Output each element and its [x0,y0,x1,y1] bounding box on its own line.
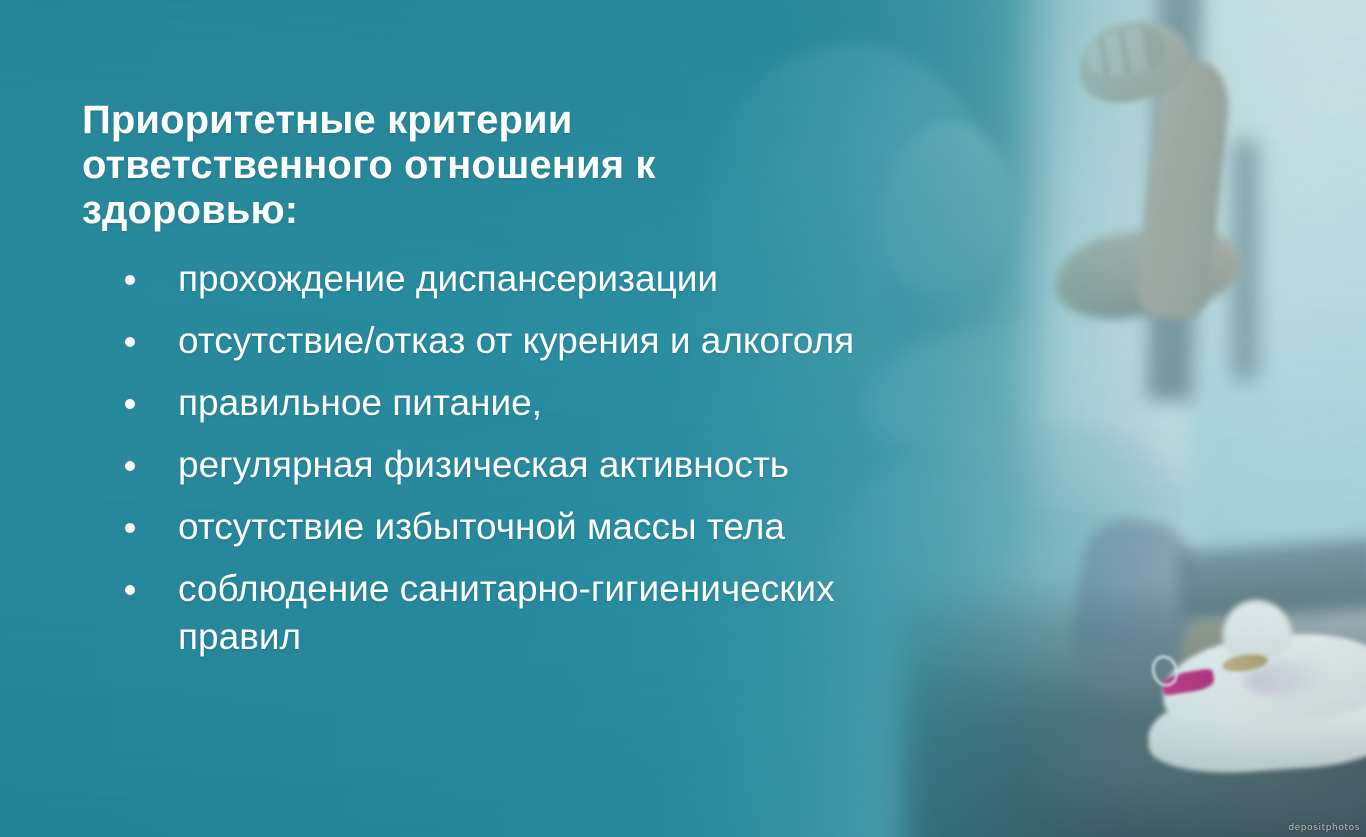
bullet-dot-icon [125,275,135,285]
list-item-label: прохождение диспансеризации [178,258,718,299]
list-item: отсутствие/отказ от курения и алкоголя [82,317,900,365]
bullet-dot-icon [125,585,135,595]
list-item-label: соблюдение санитарно-гигиенических прави… [178,568,835,657]
list-item-label: отсутствие/отказ от курения и алкоголя [178,320,854,361]
bullet-dot-icon [125,461,135,471]
list-item: правильное питание, [82,379,900,427]
criteria-list: прохождение диспансеризации отсутствие/о… [82,255,900,661]
slide: Приоритетные критерии ответственного отн… [0,0,1366,837]
list-item-label: регулярная физическая активность [178,444,789,485]
page-title: Приоритетные критерии ответственного отн… [82,98,827,233]
bullet-dot-icon [125,337,135,347]
list-item-label: правильное питание, [178,382,542,423]
list-item: отсутствие избыточной массы тела [82,503,900,551]
bullet-dot-icon [125,523,135,533]
list-item: прохождение диспансеризации [82,255,900,303]
list-item-label: отсутствие избыточной массы тела [178,506,785,547]
list-item: регулярная физическая активность [82,441,900,489]
stock-photo-watermark: depositphotos [1288,823,1360,833]
bullet-dot-icon [125,399,135,409]
text-content: Приоритетные критерии ответственного отн… [0,0,900,675]
list-item: соблюдение санитарно-гигиенических прави… [82,565,900,661]
